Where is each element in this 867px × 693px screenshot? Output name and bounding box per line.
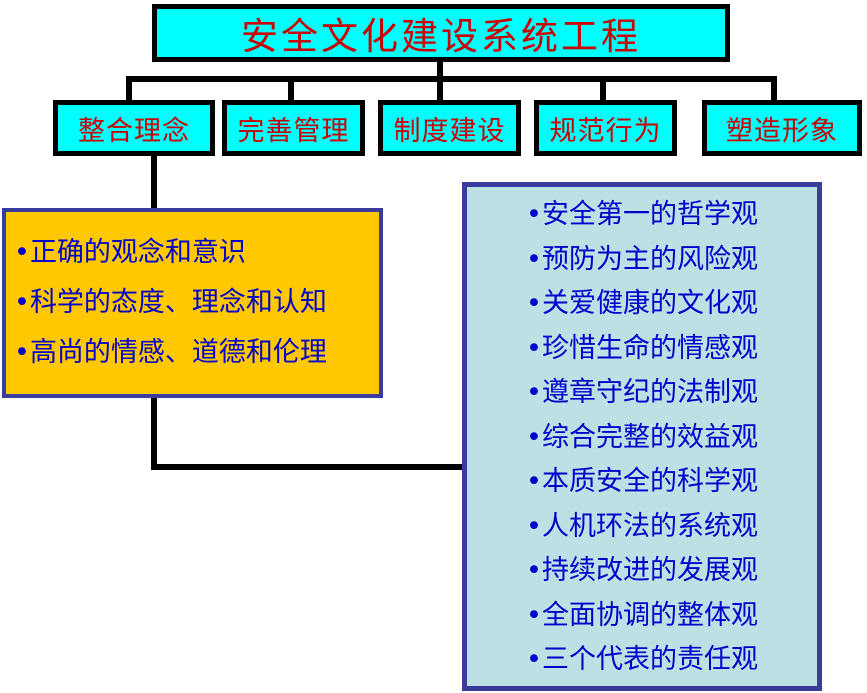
- title-label: 安全文化建设系统工程: [241, 6, 641, 60]
- bullet-icon: •: [526, 600, 542, 631]
- connector-yellow-to-blue: [151, 464, 468, 470]
- bullet-icon: •: [526, 199, 542, 230]
- connector-drop-4: [600, 76, 606, 102]
- list-item: •遵章守纪的法制观: [526, 371, 758, 416]
- branch-label: 规范行为: [550, 109, 662, 148]
- list-item: •安全第一的哲学观: [526, 193, 758, 238]
- list-item: •正确的观念和意识: [14, 228, 373, 278]
- connector-drop-3: [437, 76, 443, 102]
- list-item-label: 人机环法的系统观: [542, 511, 758, 542]
- list-item-label: 高尚的情感、道德和伦理: [30, 337, 327, 368]
- list-item-label: 科学的态度、理念和认知: [30, 287, 327, 318]
- branch-box-standardize-behavior[interactable]: 规范行为: [534, 100, 677, 156]
- list-item-label: 三个代表的责任观: [542, 644, 758, 675]
- list-item: •预防为主的风险观: [526, 238, 758, 283]
- list-item: •珍惜生命的情感观: [526, 327, 758, 372]
- bullet-icon: •: [526, 644, 542, 675]
- bullet-icon: •: [526, 333, 542, 364]
- connector-horizontal-bus: [126, 76, 777, 82]
- list-item: •关爱健康的文化观: [526, 282, 758, 327]
- bullet-icon: •: [14, 237, 30, 268]
- bullet-icon: •: [14, 287, 30, 318]
- diagram-canvas: 安全文化建设系统工程 整合理念 完善管理 制度建设 规范行为 塑造形象 •正确的…: [0, 0, 867, 693]
- connector-branch1-to-yellow: [151, 153, 157, 211]
- connector-yellow-stem-down: [151, 395, 157, 470]
- branch-box-shape-image[interactable]: 塑造形象: [702, 100, 862, 156]
- list-item-label: 正确的观念和意识: [30, 237, 246, 268]
- concept-panel[interactable]: •正确的观念和意识 •科学的态度、理念和认知 •高尚的情感、道德和伦理: [2, 208, 383, 398]
- list-item: •科学的态度、理念和认知: [14, 278, 373, 328]
- list-item-label: 全面协调的整体观: [542, 600, 758, 631]
- bullet-icon: •: [526, 377, 542, 408]
- connector-drop-2: [288, 76, 294, 102]
- list-item-label: 关爱健康的文化观: [542, 288, 758, 319]
- bullet-icon: •: [14, 337, 30, 368]
- list-item: •综合完整的效益观: [526, 416, 758, 461]
- connector-drop-1: [126, 76, 132, 102]
- bullet-icon: •: [526, 555, 542, 586]
- list-item: •三个代表的责任观: [526, 638, 758, 683]
- branch-label: 整合理念: [78, 109, 190, 148]
- list-item: •高尚的情感、道德和伦理: [14, 328, 373, 378]
- branch-label: 塑造形象: [726, 109, 838, 148]
- list-item-label: 持续改进的发展观: [542, 555, 758, 586]
- branch-box-improve-management[interactable]: 完善管理: [222, 100, 365, 156]
- values-panel[interactable]: •安全第一的哲学观 •预防为主的风险观 •关爱健康的文化观 •珍惜生命的情感观 …: [462, 182, 822, 691]
- bullet-icon: •: [526, 288, 542, 319]
- bullet-icon: •: [526, 511, 542, 542]
- list-item: •全面协调的整体观: [526, 594, 758, 639]
- list-item-label: 遵章守纪的法制观: [542, 377, 758, 408]
- list-item-label: 珍惜生命的情感观: [542, 333, 758, 364]
- list-item-label: 安全第一的哲学观: [542, 199, 758, 230]
- branch-label: 制度建设: [394, 109, 506, 148]
- bullet-icon: •: [526, 244, 542, 275]
- list-item: •持续改进的发展观: [526, 549, 758, 594]
- branch-box-system-construction[interactable]: 制度建设: [378, 100, 521, 156]
- bullet-icon: •: [526, 422, 542, 453]
- list-item-label: 综合完整的效益观: [542, 422, 758, 453]
- branch-box-integrate-concept[interactable]: 整合理念: [53, 100, 215, 156]
- list-item: •人机环法的系统观: [526, 505, 758, 550]
- branch-label: 完善管理: [238, 109, 350, 148]
- title-box[interactable]: 安全文化建设系统工程: [152, 4, 730, 62]
- list-item: •本质安全的科学观: [526, 460, 758, 505]
- list-item-label: 预防为主的风险观: [542, 244, 758, 275]
- list-item-label: 本质安全的科学观: [542, 466, 758, 497]
- connector-drop-5: [771, 76, 777, 102]
- bullet-icon: •: [526, 466, 542, 497]
